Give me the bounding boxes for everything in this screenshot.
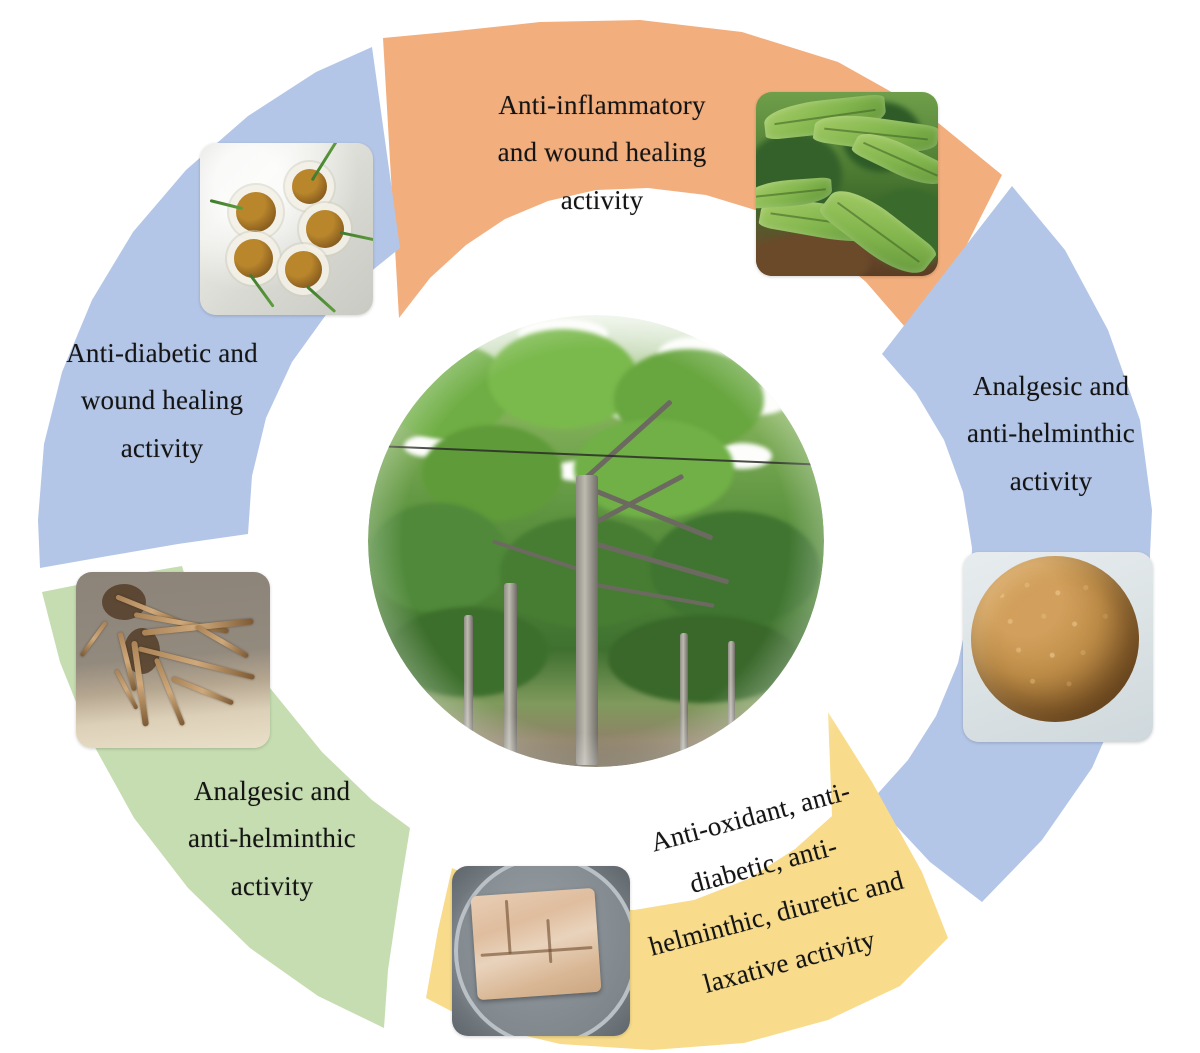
figure-canvas: Anti-inflammatory and wound healing acti… <box>0 0 1200 1053</box>
bark-photo <box>452 866 630 1036</box>
center-tree-panel <box>330 281 863 801</box>
roots-photo <box>76 572 270 748</box>
fruit-photo-content <box>963 552 1153 742</box>
tree-photograph <box>368 315 824 767</box>
bark-photo-content <box>452 866 630 1036</box>
roots-photo-content <box>76 572 270 748</box>
leaves-photo-content <box>756 92 938 276</box>
fruit-photo <box>963 552 1153 742</box>
leaves-photo <box>756 92 938 276</box>
